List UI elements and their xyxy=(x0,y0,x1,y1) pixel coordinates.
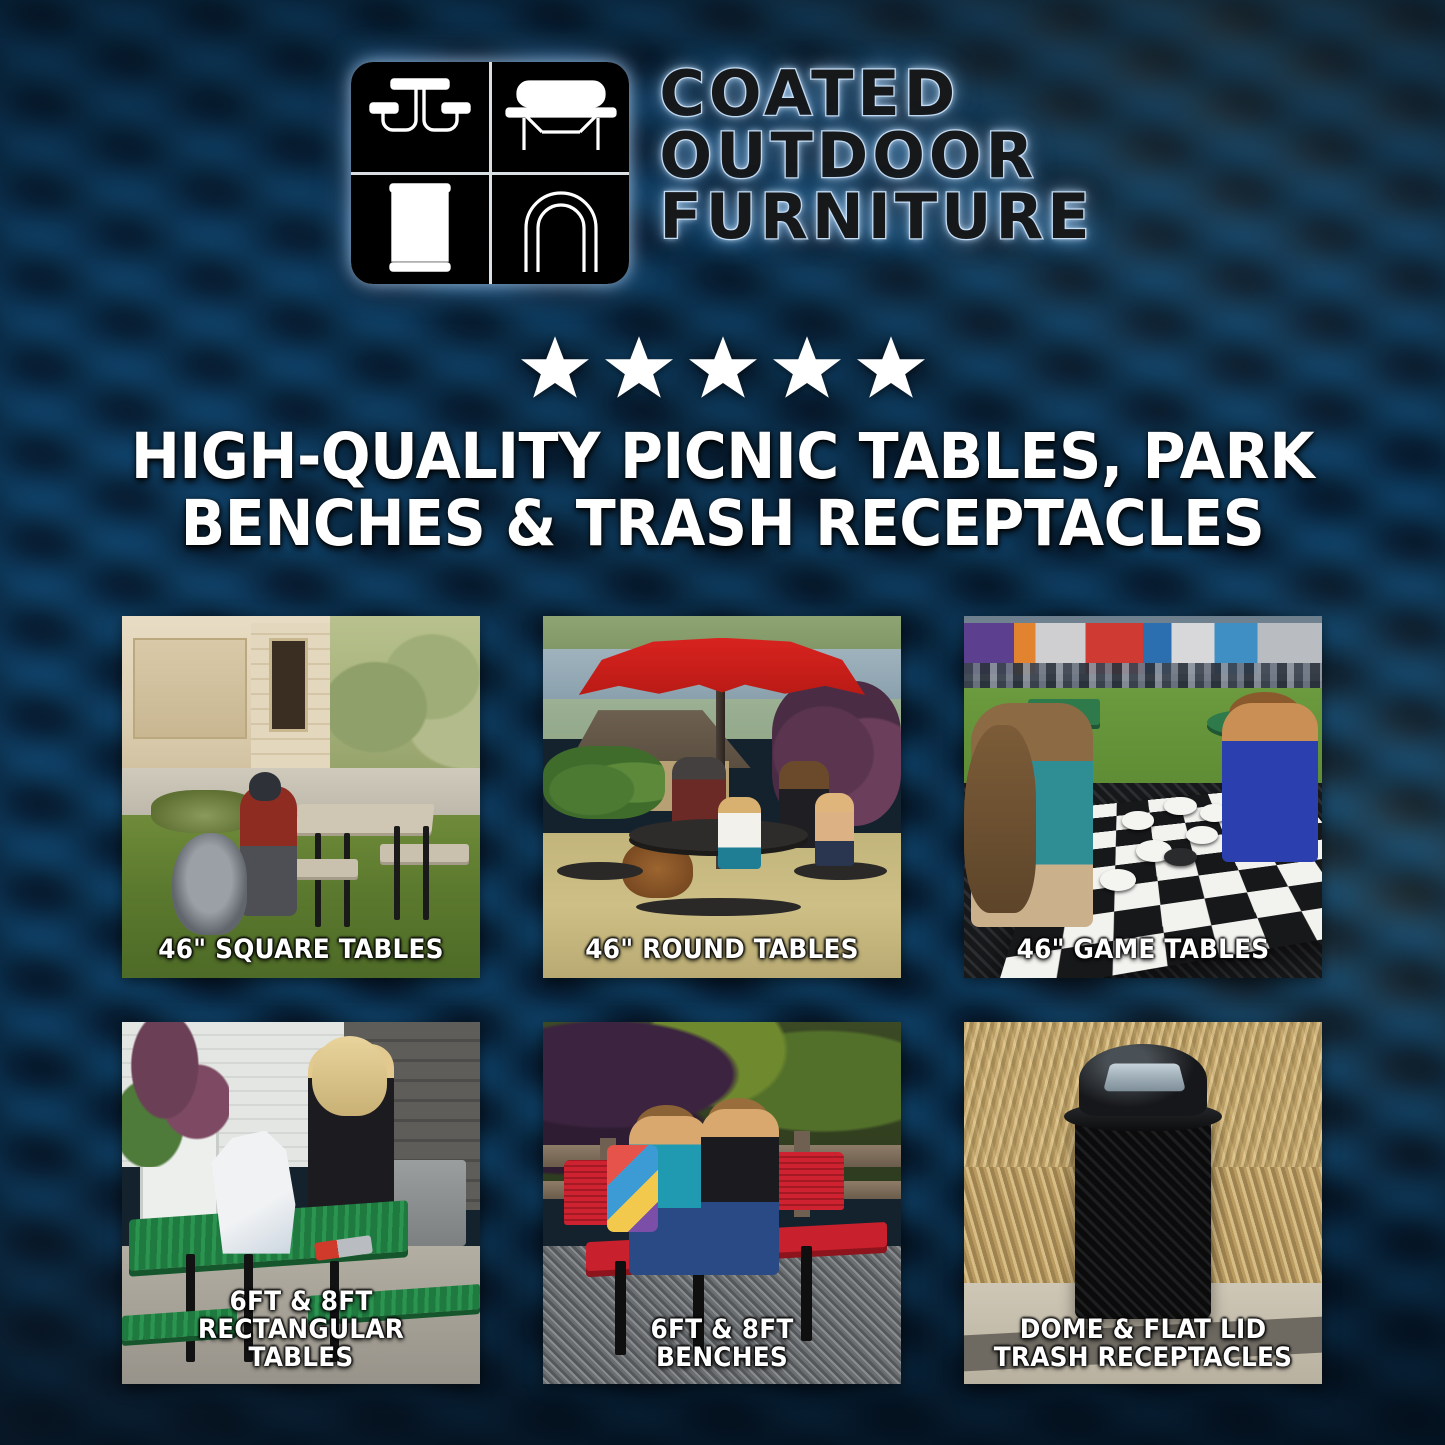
round-tables-photo xyxy=(543,616,901,978)
brand-wordmark: COATED OUTDOOR FURNITURE xyxy=(659,62,1093,247)
game-tables-photo xyxy=(964,616,1322,978)
star-icon xyxy=(856,334,926,402)
logo-icon-grid xyxy=(351,62,629,284)
tile-caption: DOME & FLAT LID TRASH RECEPTACLES xyxy=(984,1316,1302,1372)
square-tables-photo xyxy=(122,616,480,978)
tile-caption-line-1: 46" GAME TABLES xyxy=(984,936,1302,964)
tile-caption-line-1: 6FT & 8FT xyxy=(142,1288,460,1316)
tile-caption-line-2: TRASH RECEPTACLES xyxy=(984,1344,1302,1372)
headline-line-2: BENCHES & TRASH RECEPTACLES xyxy=(106,491,1338,558)
tile-caption: 46" GAME TABLES xyxy=(984,936,1302,964)
brand-logo: COATED OUTDOOR FURNITURE xyxy=(0,62,1445,284)
star-icon xyxy=(688,334,758,402)
tile-caption: 46" SQUARE TABLES xyxy=(142,936,460,964)
star-icon xyxy=(772,334,842,402)
picnic-table-front-icon xyxy=(351,62,489,172)
wordmark-line-3: FURNITURE xyxy=(659,187,1093,247)
wordmark-line-1: COATED xyxy=(659,64,1093,124)
dome-lid-icon xyxy=(492,175,630,285)
tile-caption-line-2: RECTANGULAR TABLES xyxy=(142,1316,460,1372)
product-tile-game-tables[interactable]: 46" GAME TABLES xyxy=(964,616,1322,978)
star-rating xyxy=(0,334,1445,402)
product-tile-benches[interactable]: 6FT & 8FT BENCHES xyxy=(543,1022,901,1384)
headline-line-1: HIGH-QUALITY PICNIC TABLES, PARK xyxy=(106,424,1338,491)
tile-caption: 46" ROUND TABLES xyxy=(563,936,881,964)
tile-caption-line-2: BENCHES xyxy=(563,1344,881,1372)
page-headline: HIGH-QUALITY PICNIC TABLES, PARK BENCHES… xyxy=(106,424,1338,558)
tile-caption-line-1: 46" ROUND TABLES xyxy=(563,936,881,964)
star-icon xyxy=(604,334,674,402)
tile-caption: 6FT & 8FT BENCHES xyxy=(563,1316,881,1372)
bench-table-side-icon xyxy=(492,62,630,172)
product-tile-rectangular-tables[interactable]: 6FT & 8FT RECTANGULAR TABLES xyxy=(122,1022,480,1384)
wordmark-line-2: OUTDOOR xyxy=(659,126,1093,186)
product-tile-round-tables[interactable]: 46" ROUND TABLES xyxy=(543,616,901,978)
tile-caption: 6FT & 8FT RECTANGULAR TABLES xyxy=(142,1288,460,1372)
tile-caption-line-1: 46" SQUARE TABLES xyxy=(142,936,460,964)
product-tile-square-tables[interactable]: 46" SQUARE TABLES xyxy=(122,616,480,978)
tile-caption-line-1: 6FT & 8FT xyxy=(563,1316,881,1344)
product-category-grid: 46" SQUARE TABLES xyxy=(122,616,1323,1384)
trash-can-icon xyxy=(351,175,489,285)
product-tile-trash-receptacles[interactable]: DOME & FLAT LID TRASH RECEPTACLES xyxy=(964,1022,1322,1384)
star-icon xyxy=(520,334,590,402)
tile-caption-line-1: DOME & FLAT LID xyxy=(984,1316,1302,1344)
